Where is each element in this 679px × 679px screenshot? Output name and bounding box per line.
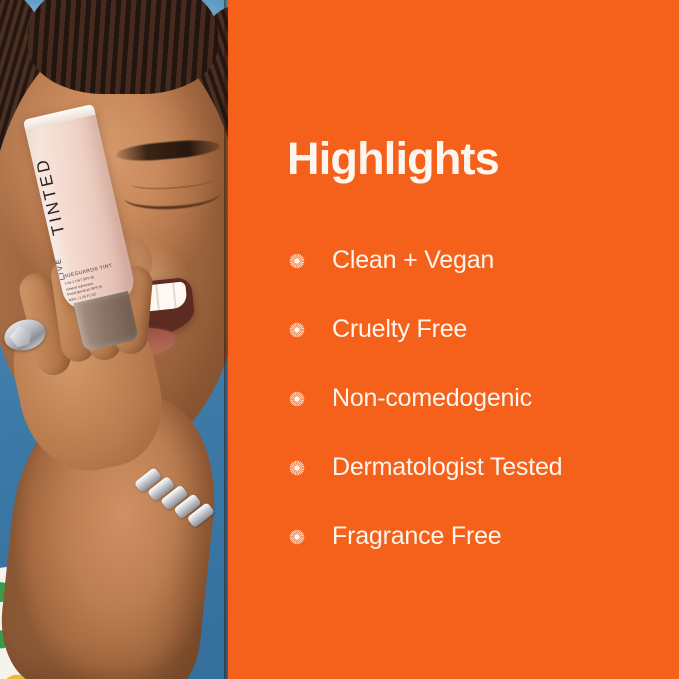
sunburst-icon <box>284 248 310 274</box>
list-item-label: Cruelty Free <box>332 315 467 344</box>
sunburst-icon <box>284 386 310 412</box>
page-title: Highlights <box>287 136 499 181</box>
sunburst-icon <box>284 524 310 550</box>
product-highlights-banner: TINTED LIVE HUEGUARD® TINT 3-IN-1 TINT S… <box>0 0 679 679</box>
list-item-label: Clean + Vegan <box>332 246 494 275</box>
list-item: Clean + Vegan <box>284 226 674 295</box>
list-item-label: Fragrance Free <box>332 522 502 551</box>
list-item-label: Non-comedogenic <box>332 384 532 413</box>
braided-hair-top <box>28 0 218 94</box>
list-item: Cruelty Free <box>284 295 674 364</box>
list-item: Non-comedogenic <box>284 364 674 433</box>
highlights-panel: Highlights Clean + Vegan Cruelty Free No… <box>228 0 679 679</box>
sunburst-icon <box>284 317 310 343</box>
product-lifestyle-photo: TINTED LIVE HUEGUARD® TINT 3-IN-1 TINT S… <box>0 0 228 679</box>
list-item: Dermatologist Tested <box>284 433 674 502</box>
list-item-label: Dermatologist Tested <box>332 453 562 482</box>
highlights-list: Clean + Vegan Cruelty Free Non-comedogen… <box>284 226 674 571</box>
sunburst-icon <box>284 455 310 481</box>
list-item: Fragrance Free <box>284 502 674 571</box>
